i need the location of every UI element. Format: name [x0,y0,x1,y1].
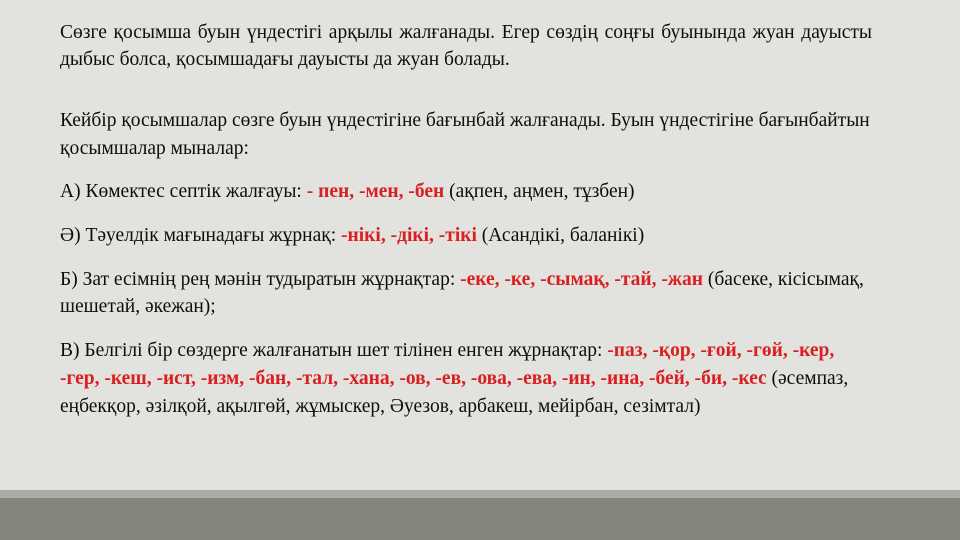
list-item-highlight: -нікі, -дікі, -тікі [341,225,477,246]
list-item-label: В) Белгілі бір сөздерге жалғанатын шет т… [60,340,607,361]
slide-canvas: Сөзге қосымша буын үндестігі арқылы жалғ… [0,0,960,540]
list-item-highlight: - пен, -мен, -бен [307,181,445,202]
list-item-tail: (Асандікі, баланікі) [477,225,644,246]
list-item-tail: (ақпен, аңмен, тұзбен) [444,181,634,202]
list-item-label: Б) Зат есімнің рең мәнін тудыратын жұрна… [60,269,460,290]
lead-paragraph: Кейбір қосымшалар сөзге буын үндестігіне… [60,107,872,162]
intro-paragraph: Сөзге қосымша буын үндестігі арқылы жалғ… [60,20,872,73]
list-item-label: Ә) Тәуелдік мағынадағы жұрнақ: [60,225,341,246]
paragraph-spacer [60,73,872,107]
list-item-highlight: -еке, -ке, -сымақ, -тай, -жан [460,269,703,290]
list-item-label: А) Көмектес септік жалғауы: [60,181,307,202]
list-item: Ә) Тәуелдік мағынадағы жұрнақ: -нікі, -д… [60,222,872,250]
footer-band-dark [0,498,960,540]
footer-band-light [0,490,960,498]
list-item: А) Көмектес септік жалғауы: - пен, -мен,… [60,178,872,206]
list-item: В) Белгілі бір сөздерге жалғанатын шет т… [60,337,872,420]
slide-content-body: Сөзге қосымша буын үндестігі арқылы жалғ… [60,20,872,420]
list-item: Б) Зат есімнің рең мәнін тудыратын жұрна… [60,266,872,321]
